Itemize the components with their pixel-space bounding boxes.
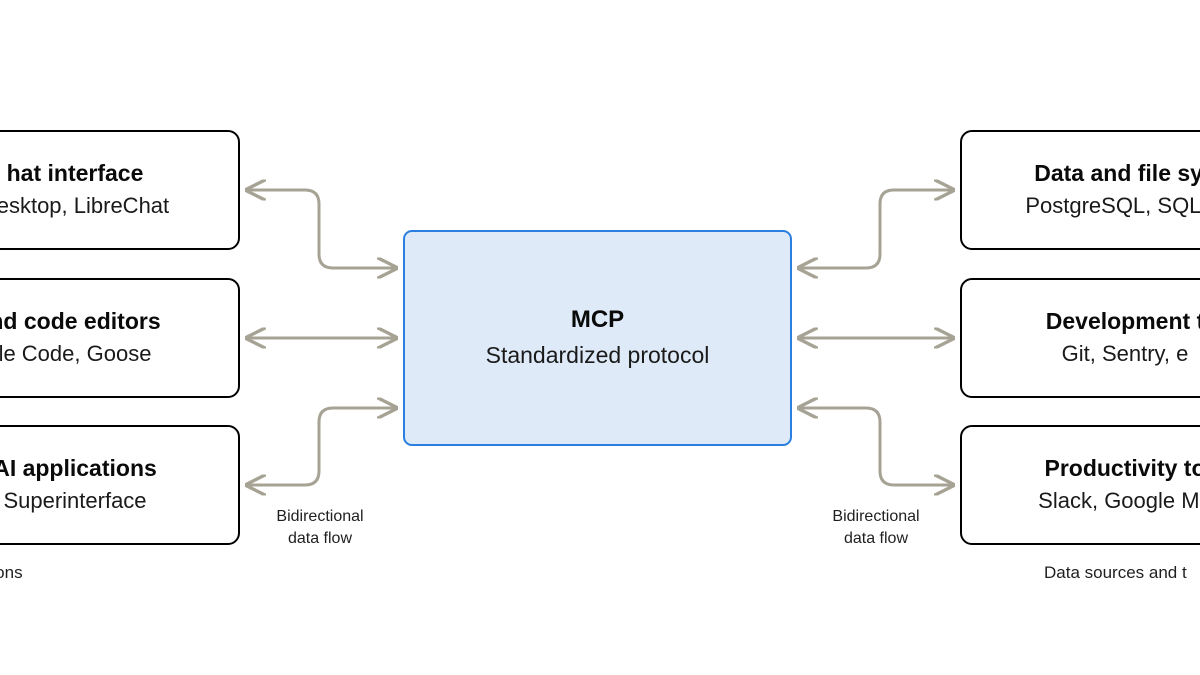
hub-subtitle: Standardized protocol <box>486 341 710 370</box>
node-subtitle: le Code, Goose <box>0 340 151 367</box>
flow-caption-left: Bidirectional data flow <box>240 506 400 550</box>
node-productivity-tools[interactable]: Productivity to Slack, Google Ma <box>960 425 1200 545</box>
node-development-tools[interactable]: Development t Git, Sentry, e <box>960 278 1200 398</box>
group-caption-ai-applications: AI applications <box>0 563 23 583</box>
hub-title: MCP <box>571 306 624 335</box>
node-subtitle: Git, Sentry, e <box>1062 340 1189 367</box>
node-title: Data and file sys <box>1034 160 1200 187</box>
node-data-and-file-systems[interactable]: Data and file sys PostgreSQL, SQLite <box>960 130 1200 250</box>
connector-right-1 <box>799 190 953 268</box>
connector-left-1 <box>247 190 396 268</box>
node-title: nd code editors <box>0 308 161 335</box>
node-subtitle: Superinterface <box>3 487 146 514</box>
flow-caption-right: Bidirectional data flow <box>796 506 956 550</box>
connector-right-3 <box>799 408 953 485</box>
connector-left-3 <box>247 408 396 485</box>
node-mcp-hub[interactable]: MCP Standardized protocol <box>403 230 792 446</box>
node-code-editors[interactable]: nd code editors le Code, Goose <box>0 278 240 398</box>
node-subtitle: Desktop, LibreChat <box>0 192 169 219</box>
node-title: hat interface <box>7 160 144 187</box>
node-title: AI applications <box>0 455 157 482</box>
node-subtitle: PostgreSQL, SQLite <box>1025 192 1200 219</box>
flow-caption-right-line2: data flow <box>796 528 956 550</box>
group-caption-data-sources: Data sources and t <box>1044 563 1187 583</box>
node-chat-interface[interactable]: hat interface Desktop, LibreChat <box>0 130 240 250</box>
flow-caption-left-line1: Bidirectional <box>240 506 400 528</box>
node-ai-applications[interactable]: AI applications Superinterface <box>0 425 240 545</box>
diagram-canvas: hat interface Desktop, LibreChat nd code… <box>0 0 1200 675</box>
flow-caption-right-line1: Bidirectional <box>796 506 956 528</box>
flow-caption-left-line2: data flow <box>240 528 400 550</box>
node-title: Development t <box>1046 308 1200 335</box>
node-title: Productivity to <box>1044 455 1200 482</box>
node-subtitle: Slack, Google Ma <box>1038 487 1200 514</box>
